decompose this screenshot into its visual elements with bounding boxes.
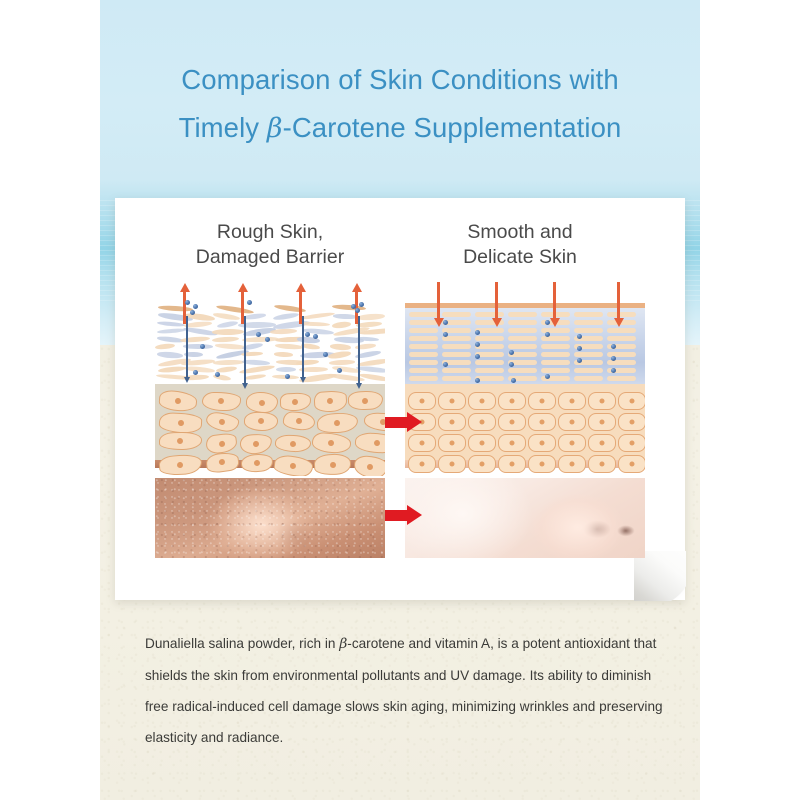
cell-nucleus <box>570 441 575 446</box>
dermis-cell <box>498 455 526 473</box>
skin-diagram-healthy <box>405 282 645 476</box>
cell-nucleus <box>480 420 485 425</box>
corneocyte-lamella <box>574 368 603 373</box>
corneocyte-flake <box>333 313 357 319</box>
corneocyte-lamella <box>442 312 471 317</box>
dermis-cell <box>347 390 382 411</box>
photo-rough-skin <box>155 478 385 558</box>
dermis-cell <box>528 455 556 473</box>
dermis-cell <box>588 392 616 410</box>
page-curl-corner <box>634 551 686 601</box>
cell-nucleus <box>253 460 260 467</box>
dermis-cell <box>159 411 203 433</box>
cell-nucleus <box>510 420 515 425</box>
corneocyte-lamella <box>442 368 471 373</box>
dermis-cell <box>408 392 436 410</box>
cell-nucleus <box>219 459 226 466</box>
arrow-shaft <box>385 417 409 428</box>
cell-nucleus <box>259 399 265 405</box>
column-heading-left: Rough Skin, Damaged Barrier <box>155 220 385 270</box>
cell-nucleus <box>630 462 635 467</box>
cell-nucleus <box>420 399 425 404</box>
cell-nucleus <box>367 463 373 469</box>
cell-nucleus <box>450 441 455 446</box>
cell-nucleus <box>219 419 226 426</box>
cell-nucleus <box>570 399 575 404</box>
cell-nucleus <box>177 438 183 444</box>
moisture-arrow <box>495 282 498 320</box>
water-molecule <box>185 300 190 305</box>
dermis-cell <box>158 453 202 476</box>
dermis-cell <box>468 434 496 452</box>
cell-nucleus <box>292 398 298 404</box>
corneocyte-lamella <box>607 312 636 317</box>
corneocyte-lamella <box>508 368 537 373</box>
corneocyte-lamella <box>607 376 636 381</box>
column-heading-right: Smooth and Delicate Skin <box>405 220 635 270</box>
barrier-penetration-arrow <box>358 316 360 384</box>
water-molecule <box>509 362 514 367</box>
cell-nucleus <box>510 441 515 446</box>
corneocyte-lamella <box>574 320 603 325</box>
water-molecule <box>611 356 616 361</box>
water-molecule <box>193 304 198 309</box>
cell-nucleus <box>630 399 635 404</box>
water-molecule <box>247 300 252 305</box>
cell-nucleus <box>253 441 260 448</box>
corneocyte-lamella <box>409 312 438 317</box>
water-molecule <box>545 374 550 379</box>
water-molecule <box>545 332 550 337</box>
cell-nucleus <box>218 440 225 447</box>
dermis-cell <box>205 451 240 474</box>
dermis-cell <box>498 434 526 452</box>
corneocyte-lamella <box>574 352 603 357</box>
corneocyte-lamella <box>475 360 504 365</box>
dermis-cell <box>618 413 645 431</box>
corneocyte-lamella <box>508 336 537 341</box>
dermis-cell <box>558 392 586 410</box>
skin-diagram-damaged <box>155 282 385 476</box>
water-molecule <box>443 332 448 337</box>
water-molecule <box>285 374 290 379</box>
corneocyte-lamella <box>508 320 537 325</box>
water-molecule <box>190 310 195 315</box>
dermis-cell <box>588 413 616 431</box>
cell-nucleus <box>630 441 635 446</box>
arrow-shaft <box>385 510 409 521</box>
dermis-cell <box>588 434 616 452</box>
cell-nucleus <box>480 462 485 467</box>
corneocyte-lamella <box>541 336 570 341</box>
cell-nucleus <box>570 420 575 425</box>
cell-nucleus <box>374 440 380 446</box>
corneocyte-flake <box>274 352 293 358</box>
cell-nucleus <box>334 419 341 426</box>
water-molecule <box>545 320 550 325</box>
corneocyte-lamella <box>607 360 636 365</box>
heading-right-line-1: Smooth and <box>405 220 635 245</box>
page-title: Comparison of Skin Conditions with Timel… <box>100 56 700 153</box>
dermis-cell <box>438 434 466 452</box>
heading-left-line-2: Damaged Barrier <box>155 245 385 270</box>
cell-nucleus <box>600 462 605 467</box>
corneocyte-lamella <box>442 352 471 357</box>
cell-nucleus <box>600 399 605 404</box>
dermis-cell <box>408 434 436 452</box>
corneocyte-lamella <box>475 336 504 341</box>
dermis-cell <box>558 413 586 431</box>
cell-nucleus <box>450 399 455 404</box>
corneocyte-lamella <box>541 360 570 365</box>
dermis-cell <box>528 392 556 410</box>
dermis-cell <box>313 389 347 412</box>
corneocyte-lamella <box>409 328 438 333</box>
dermis-cell <box>438 455 466 473</box>
dermis-cell <box>468 455 496 473</box>
barrier-penetration-arrow <box>244 316 246 384</box>
cell-nucleus <box>600 420 605 425</box>
rough-skin-image <box>155 478 385 558</box>
barrier-penetration-arrow <box>302 316 304 378</box>
heading-left-line-1: Rough Skin, <box>155 220 385 245</box>
dermis-cell <box>314 452 353 475</box>
description-text: Dunaliella salina powder, rich in β-caro… <box>145 628 665 753</box>
cell-nucleus <box>540 441 545 446</box>
cell-nucleus <box>510 462 515 467</box>
title-line-2-suffix: -Carotene Supplementation <box>283 112 622 143</box>
corneocyte-lamella <box>541 344 570 349</box>
corneocyte-lamella <box>442 376 471 381</box>
corneocyte-lamella <box>541 368 570 373</box>
dermis-cell <box>275 434 311 452</box>
cell-nucleus <box>540 462 545 467</box>
corneocyte-lamella <box>409 352 438 357</box>
cell-nucleus <box>290 462 297 469</box>
dermis-cell <box>202 392 241 411</box>
title-line-2: Timely β-Carotene Supplementation <box>100 104 700 153</box>
water-molecule <box>355 308 360 313</box>
water-molecule <box>359 302 364 307</box>
water-molecule <box>193 370 198 375</box>
cell-nucleus <box>330 461 336 467</box>
cell-nucleus <box>175 398 181 404</box>
cell-nucleus <box>510 399 515 404</box>
water-molecule <box>475 330 480 335</box>
dermis-cell <box>588 455 616 473</box>
dermis-cell <box>618 434 645 452</box>
corneocyte-lamella <box>409 376 438 381</box>
water-molecule <box>337 368 342 373</box>
corneocyte-lamella <box>574 328 603 333</box>
arrow-head <box>407 412 422 432</box>
cell-nucleus <box>540 420 545 425</box>
corneocyte-lamella <box>508 328 537 333</box>
water-molecule <box>509 350 514 355</box>
water-molecule <box>577 346 582 351</box>
moisture-arrow <box>437 282 440 320</box>
moisture-arrow <box>553 282 556 320</box>
cell-nucleus <box>630 420 635 425</box>
cell-nucleus <box>420 462 425 467</box>
cell-nucleus <box>570 462 575 467</box>
water-molecule <box>577 334 582 339</box>
dermis-cell <box>498 392 526 410</box>
smooth-skin-image <box>405 478 645 558</box>
water-molecule <box>511 378 516 383</box>
photo-smooth-skin <box>405 478 645 558</box>
corneocyte-lamella <box>508 312 537 317</box>
corneocyte-flake <box>213 359 244 364</box>
corneocyte-lamella <box>508 344 537 349</box>
water-molecule <box>256 332 261 337</box>
water-molecule <box>443 362 448 367</box>
water-molecule <box>200 344 205 349</box>
corneocyte-lamella <box>607 336 636 341</box>
corneocyte-lamella <box>574 312 603 317</box>
dermis-cell <box>353 455 385 476</box>
cell-nucleus <box>290 440 296 446</box>
corneocyte-lamella <box>574 376 603 381</box>
cell-nucleus <box>600 441 605 446</box>
water-molecule <box>475 378 480 383</box>
water-molecule <box>443 320 448 325</box>
cell-nucleus <box>177 419 183 425</box>
dermis-cell <box>438 392 466 410</box>
cell-nucleus <box>177 461 183 467</box>
cell-nucleus <box>450 420 455 425</box>
moisture-arrow <box>617 282 620 320</box>
dermis-cell <box>618 392 645 410</box>
dermis-cell <box>528 413 556 431</box>
cell-nucleus <box>258 419 264 425</box>
cell-nucleus <box>362 397 368 403</box>
water-molecule <box>611 344 616 349</box>
dermis-cell <box>408 455 436 473</box>
water-molecule <box>313 334 318 339</box>
title-line-1: Comparison of Skin Conditions with <box>100 56 700 104</box>
water-molecule <box>215 372 220 377</box>
water-molecule <box>305 332 310 337</box>
cell-nucleus <box>218 398 224 404</box>
cell-nucleus <box>480 399 485 404</box>
water-molecule <box>475 342 480 347</box>
cell-nucleus <box>329 440 335 446</box>
dermis-cell <box>468 392 496 410</box>
poster-root: Comparison of Skin Conditions with Timel… <box>0 0 800 800</box>
water-molecule <box>611 368 616 373</box>
water-molecule <box>475 354 480 359</box>
corneocyte-lamella <box>409 360 438 365</box>
cell-nucleus <box>420 441 425 446</box>
title-line-2-prefix: Timely <box>179 112 267 143</box>
water-molecule <box>323 352 328 357</box>
dermis-cell <box>558 434 586 452</box>
heading-right-line-2: Delicate Skin <box>405 245 635 270</box>
dermis-cell <box>468 413 496 431</box>
beta-symbol-title: β <box>267 113 283 144</box>
cell-nucleus <box>540 399 545 404</box>
dermis-cell <box>498 413 526 431</box>
cell-nucleus <box>450 462 455 467</box>
corneocyte-lamella <box>541 352 570 357</box>
corneocyte-lamella <box>475 368 504 373</box>
water-molecule <box>577 358 582 363</box>
corneocyte-lamella <box>409 344 438 349</box>
dermis-cell <box>438 413 466 431</box>
corneocyte-lamella <box>475 312 504 317</box>
cell-nucleus <box>327 398 333 404</box>
barrier-penetration-arrow <box>186 316 188 378</box>
cell-nucleus <box>480 441 485 446</box>
dermis-cell <box>528 434 556 452</box>
corneocyte-lamella <box>409 368 438 373</box>
corneocyte-lamella <box>409 336 438 341</box>
description-part-1: Dunaliella salina powder, rich in <box>145 636 339 651</box>
arrow-head <box>407 505 422 525</box>
dermis-cell <box>246 392 278 413</box>
dermis-cell <box>618 455 645 473</box>
dermis-cell <box>558 455 586 473</box>
corneocyte-lamella <box>442 344 471 349</box>
water-molecule <box>265 337 270 342</box>
description-paragraph: Dunaliella salina powder, rich in β-caro… <box>145 628 665 753</box>
corneocyte-lamella <box>607 328 636 333</box>
description-part-2: -carotene and vitamin A, is a potent ant… <box>145 636 663 745</box>
cell-nucleus <box>295 418 301 424</box>
